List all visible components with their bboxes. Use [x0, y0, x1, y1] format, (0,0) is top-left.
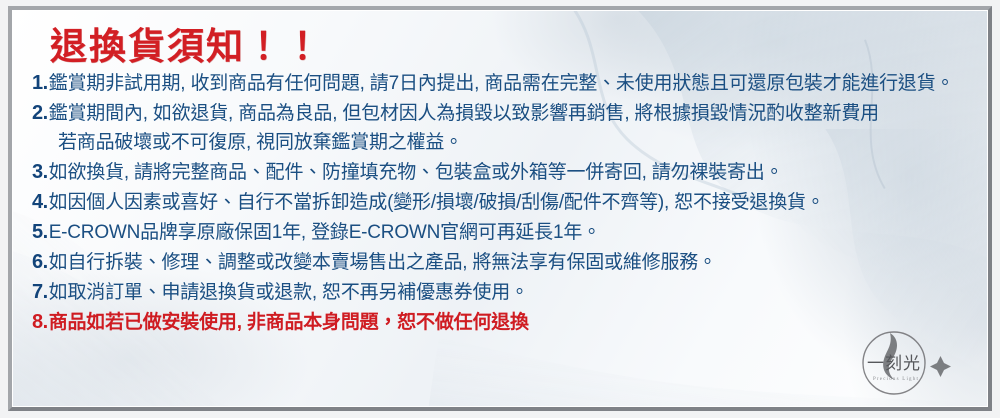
notice-frame: 退換貨須知！！ 1. 鑑賞期非試用期, 收到商品有任何問題, 請7日內提出, 商…: [8, 6, 992, 411]
list-item: 7. 如取消訂單、申請退換貨或退款, 恕不再另補優惠券使用。: [32, 282, 970, 302]
term-text: 商品如若已做安裝使用, 非商品本身問題，恕不做任何退換: [49, 313, 529, 332]
terms-list: 1. 鑑賞期非試用期, 收到商品有任何問題, 請7日內提出, 商品需在完整、未使…: [32, 73, 970, 332]
term-number: 5.: [32, 222, 48, 242]
list-item: 3. 如欲換貨, 請將完整商品、配件、防撞填充物、包裝盒或外箱等一併寄回, 請勿…: [32, 162, 970, 182]
list-item: 4. 如因個人因素或喜好、自行不當拆卸造成(變形/損壞/破損/刮傷/配件不齊等)…: [32, 192, 970, 212]
term-text: 鑑賞期非試用期, 收到商品有任何問題, 請7日內提出, 商品需在完整、未使用狀態…: [49, 74, 955, 93]
list-item: 2. 鑑賞期間內, 如欲退貨, 商品為良品, 但包材因人為損毀以致影響再銷售, …: [32, 103, 970, 123]
term-text: 如自行拆裝、修理、調整或改變本賣場售出之產品, 將無法享有保固或維修服務。: [49, 253, 717, 272]
term-number: 4.: [32, 192, 48, 212]
notice-content: 退換貨須知！！ 1. 鑑賞期非試用期, 收到商品有任何問題, 請7日內提出, 商…: [12, 10, 988, 407]
return-policy-notice: 退換貨須知！！ 1. 鑑賞期非試用期, 收到商品有任何問題, 請7日內提出, 商…: [0, 0, 1000, 418]
term-number: 6.: [32, 252, 48, 272]
term-number: 2.: [32, 103, 48, 123]
term-text: 鑑賞期間內, 如欲退貨, 商品為良品, 但包材因人為損毀以致影響再銷售, 將根據…: [49, 104, 879, 123]
page-title: 退換貨須知！！: [50, 28, 970, 65]
list-item-continuation: 若商品破壞或不可復原, 視同放棄鑑賞期之權益。: [32, 133, 970, 152]
list-item: 1. 鑑賞期非試用期, 收到商品有任何問題, 請7日內提出, 商品需在完整、未使…: [32, 73, 970, 93]
term-number: 7.: [32, 282, 48, 302]
term-text: 如因個人因素或喜好、自行不當拆卸造成(變形/損壞/破損/刮傷/配件不齊等), 恕…: [49, 193, 825, 212]
list-item: 6. 如自行拆裝、修理、調整或改變本賣場售出之產品, 將無法享有保固或維修服務。: [32, 252, 970, 272]
list-item-highlighted: 8. 商品如若已做安裝使用, 非商品本身問題，恕不做任何退換: [32, 312, 970, 332]
term-text: 如欲換貨, 請將完整商品、配件、防撞填充物、包裝盒或外箱等一併寄回, 請勿裸裝寄…: [49, 163, 784, 182]
term-text: E-CROWN品牌享原廠保固1年, 登錄E-CROWN官網可再延長1年。: [49, 223, 601, 242]
list-item: 5. E-CROWN品牌享原廠保固1年, 登錄E-CROWN官網可再延長1年。: [32, 222, 970, 242]
term-text: 如取消訂單、申請退換貨或退款, 恕不再另補優惠券使用。: [49, 283, 529, 302]
term-number: 1.: [32, 73, 48, 93]
term-text: 若商品破壞或不可復原, 視同放棄鑑賞期之權益。: [58, 133, 463, 152]
term-number: 3.: [32, 162, 48, 182]
term-number: 8.: [32, 312, 48, 332]
